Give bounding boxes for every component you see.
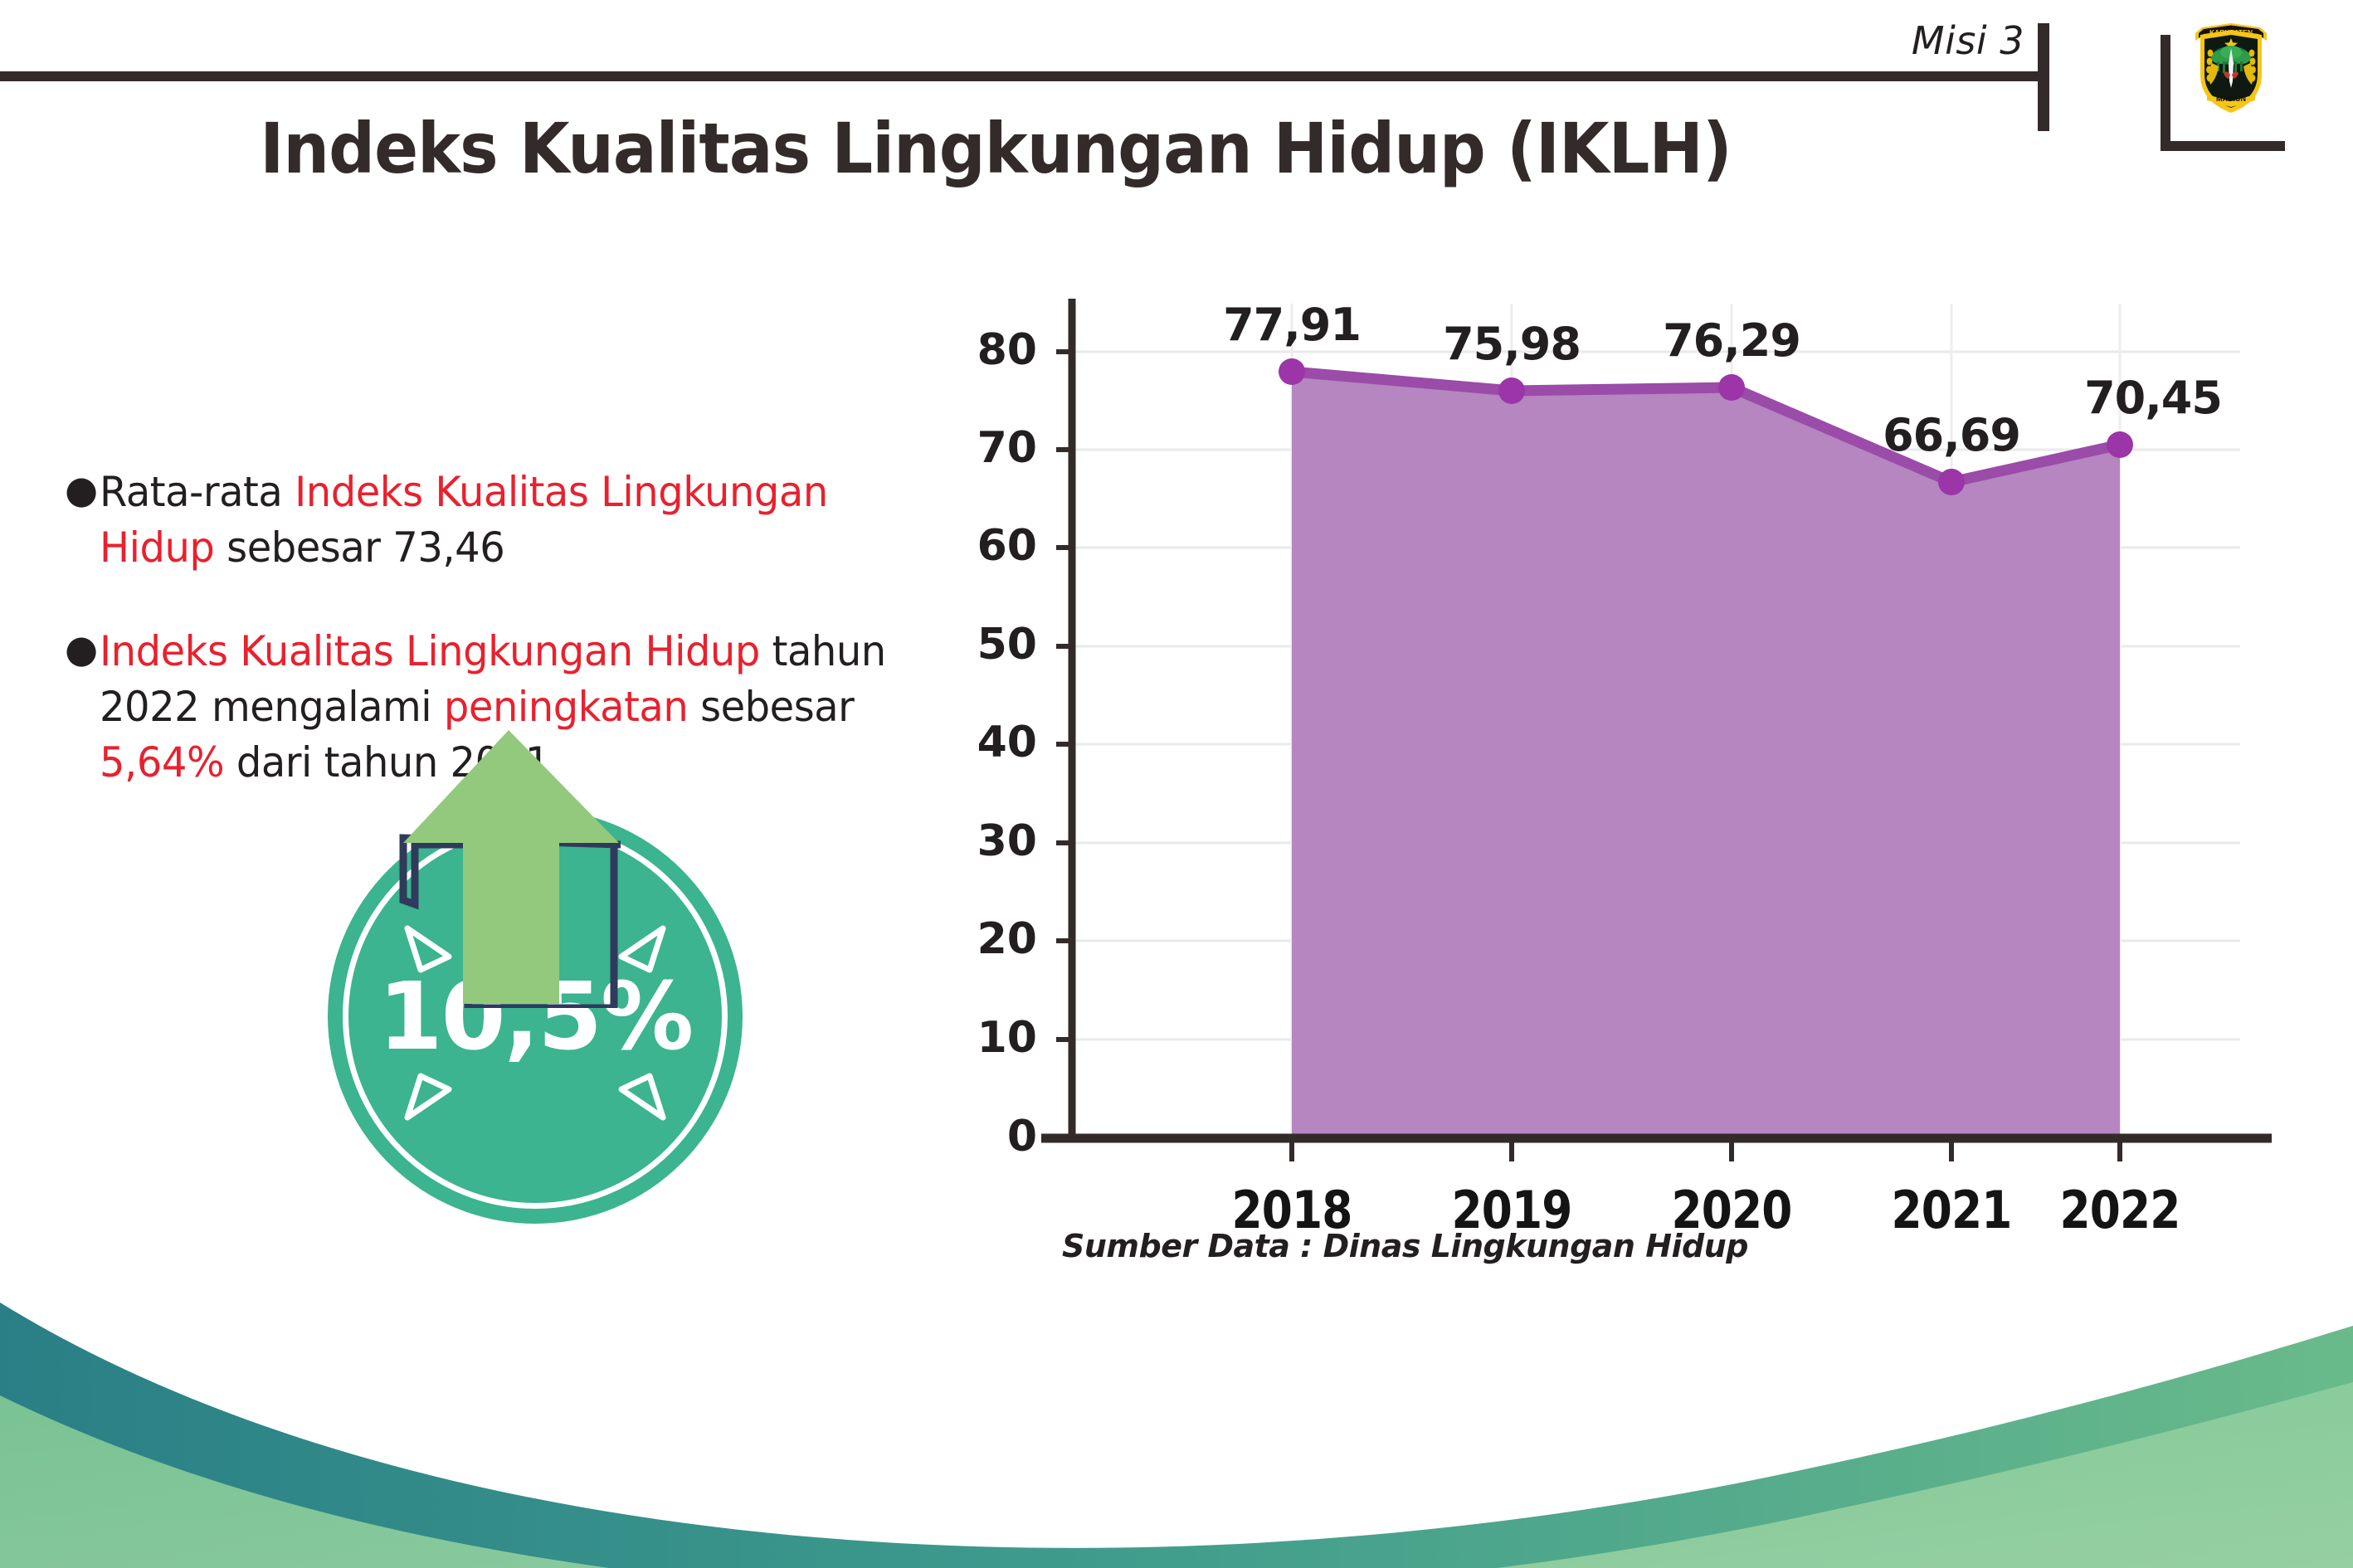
arrow-up-icon	[397, 730, 621, 1008]
y-tick-label-80: 80	[938, 325, 1037, 375]
plain-phrase: Rata-rata	[100, 468, 295, 516]
header-divider-end-cap	[2038, 23, 2049, 131]
infographic-slide: Misi 3	[0, 0, 2353, 1568]
bullet-item-average: ● Rata-rata Indeks Kualitas Lingkungan H…	[65, 465, 952, 576]
highlighted-phrase: 5,64%	[100, 738, 224, 786]
y-tick-label-30: 30	[938, 816, 1037, 866]
highlighted-phrase: Indeks Kualitas Lingkungan Hidup	[100, 627, 760, 675]
mission-label: Misi 3	[1751, 18, 2024, 63]
page-title: Indeks Kualitas Lingkungan Hidup (IKLH)	[70, 108, 1922, 189]
footer-banner: Media Infografis Data Statistik Sektoral…	[0, 1220, 2353, 1568]
data-label-2020: 76,29	[1620, 314, 1844, 367]
data-label-2018: 77,91	[1180, 299, 1404, 351]
chart-area-fill	[1292, 372, 2120, 1138]
emblem-bottom-text: MADIUN	[2216, 95, 2246, 103]
highlighted-phrase: peningkatan	[444, 683, 688, 731]
y-tick-label-60: 60	[938, 521, 1037, 571]
y-tick-label-40: 40	[938, 718, 1037, 767]
y-tick-label-20: 20	[938, 914, 1037, 964]
header-divider-rule	[0, 71, 2048, 81]
y-tick-label-70: 70	[938, 423, 1037, 473]
y-tick-label-50: 50	[938, 620, 1037, 670]
iklh-area-chart: 80 70 60 50 40 30 20 10 0 2018 2019 2020…	[946, 274, 2290, 1203]
y-tick-label-10: 10	[938, 1013, 1037, 1063]
data-label-2021: 66,69	[1839, 409, 2063, 461]
bullet-dot-icon: ●	[65, 624, 98, 675]
bullet-text-average: Rata-rata Indeks Kualitas Lingkungan Hid…	[100, 465, 918, 576]
logo-bracket-vertical	[2161, 35, 2170, 151]
y-tick-label-0: 0	[938, 1112, 1037, 1161]
plain-phrase: sebesar 73,46	[214, 523, 504, 572]
data-label-2019: 75,98	[1400, 318, 1624, 370]
plain-phrase: sebesar	[688, 683, 854, 731]
logo-bracket-horizontal	[2161, 141, 2285, 151]
bullet-dot-icon: ●	[65, 465, 98, 516]
footer-waves	[0, 1220, 2353, 1568]
emblem-top-text: KABUPATEN	[2209, 28, 2253, 37]
kabupaten-madiun-emblem-icon: MADIUN KABUPATEN	[2187, 15, 2275, 118]
data-label-2022: 70,45	[2041, 372, 2265, 424]
